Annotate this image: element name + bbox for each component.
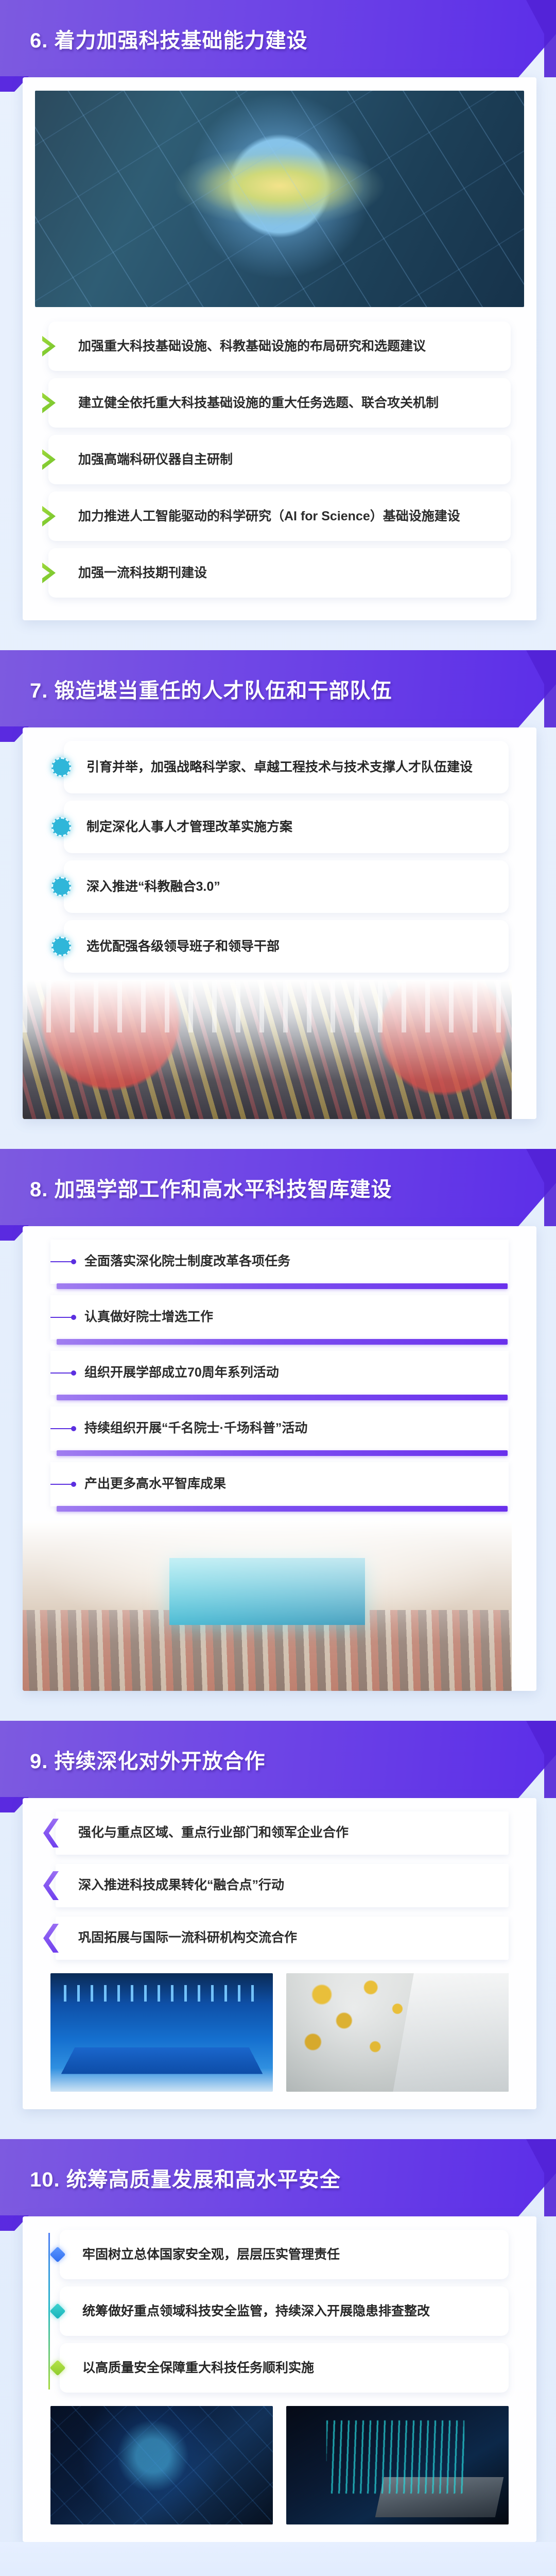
list-item[interactable]: 选优配强各级领导班子和领导干部 xyxy=(64,920,509,973)
list-item[interactable]: 深入推进科技成果转化“融合点”行动 xyxy=(56,1864,509,1907)
section-7-photo-strip xyxy=(23,980,512,1119)
list-item-label: 认真做好院士增选工作 xyxy=(84,1308,213,1327)
section-9-list: 强化与重点区域、重点行业部门和领军企业合作 深入推进科技成果转化“融合点”行动 … xyxy=(35,1811,524,1960)
section-9: 9. 持续深化对外开放合作 强化与重点区域、重点行业部门和领军企业合作 深入推进… xyxy=(0,1721,556,2139)
section-8: 8. 加强学部工作和高水平科技智库建设 全面落实深化院士制度改革各项任务 认真做… xyxy=(0,1149,556,1721)
dashed-circle-icon xyxy=(51,757,71,777)
chevron-right-icon xyxy=(42,449,56,470)
section-8-photo-strip xyxy=(23,1521,512,1691)
section-6-title: 6. 着力加强科技基础能力建设 xyxy=(30,24,307,54)
section-10-title: 10. 统筹高质量发展和高水平安全 xyxy=(30,2163,341,2193)
list-item[interactable]: 深入推进“科教融合3.0” xyxy=(64,860,509,913)
section-10: 10. 统筹高质量发展和高水平安全 牢固树立总体国家安全观，层层压实管理责任 统… xyxy=(0,2139,556,2542)
list-item[interactable]: 认真做好院士增选工作 xyxy=(50,1295,509,1340)
section-9-title: 9. 持续深化对外开放合作 xyxy=(30,1744,265,1774)
list-item[interactable]: 加力推进人工智能驱动的科学研究（AI for Science）基础设施建设 xyxy=(48,492,511,541)
list-item[interactable]: 强化与重点区域、重点行业部门和领军企业合作 xyxy=(56,1811,509,1855)
list-item-label: 引育并举，加强战略科学家、卓越工程技术与技术支撑人才队伍建设 xyxy=(86,757,473,777)
list-item-label: 加强高端科研仪器自主研制 xyxy=(78,450,233,469)
card-underline xyxy=(57,1450,508,1456)
list-item-label: 全面落实深化院士制度改革各项任务 xyxy=(84,1252,290,1272)
card-underline xyxy=(57,1339,508,1345)
section-6-list: 加强重大科技基础设施、科教基础设施的布局研究和选题建议 建立健全依托重大科技基础… xyxy=(35,321,524,598)
diamond-icon xyxy=(49,2360,65,2376)
section-7-header: 7. 锻造堪当重任的人才队伍和干部队伍 xyxy=(0,650,556,727)
chevron-right-icon xyxy=(42,393,56,413)
diamond-icon xyxy=(49,2303,65,2319)
section-8-title: 8. 加强学部工作和高水平科技智库建设 xyxy=(30,1173,392,1202)
double-chevron-left-icon xyxy=(43,1819,59,1848)
double-chevron-left-icon xyxy=(43,1871,59,1900)
list-item[interactable]: 引育并举，加强战略科学家、卓越工程技术与技术支撑人才队伍建设 xyxy=(64,741,509,793)
list-item[interactable]: 全面落实深化院士制度改革各项任务 xyxy=(50,1240,509,1284)
list-item-label: 制定深化人事人才管理改革实施方案 xyxy=(86,817,292,837)
list-item-label: 深入推进“科教融合3.0” xyxy=(86,877,220,897)
bay-area-science-forum-photo xyxy=(50,1973,273,2092)
section-10-header: 10. 统筹高质量发展和高水平安全 xyxy=(0,2139,556,2216)
list-item-label: 加力推进人工智能驱动的科学研究（AI for Science）基础设施建设 xyxy=(78,506,460,526)
arrow-right-icon xyxy=(50,1370,78,1376)
section-8-panel: 全面落实深化院士制度改革各项任务 认真做好院士增选工作 组织开展学部成立70周年… xyxy=(23,1226,536,1691)
data-analysis-laptop-photo xyxy=(286,2406,509,2524)
list-item-label: 加强重大科技基础设施、科教基础设施的布局研究和选题建议 xyxy=(78,336,426,356)
section-7-list: 引育并举，加强战略科学家、卓越工程技术与技术支撑人才队伍建设 制定深化人事人才管… xyxy=(35,741,524,973)
list-item-label: 强化与重点区域、重点行业部门和领军企业合作 xyxy=(78,1823,349,1843)
dashed-circle-icon xyxy=(51,937,71,956)
list-item[interactable]: 牢固树立总体国家安全观，层层压实管理责任 xyxy=(60,2230,509,2279)
dashed-circle-icon xyxy=(51,817,71,837)
list-item-label: 加强一流科技期刊建设 xyxy=(78,563,207,583)
photo-fade-overlay xyxy=(23,1521,512,1691)
photo-fade-overlay xyxy=(23,980,512,1119)
hero-image-collider xyxy=(35,91,524,307)
section-7: 7. 锻造堪当重任的人才队伍和干部队伍 引育并举，加强战略科学家、卓越工程技术与… xyxy=(0,650,556,1149)
section-10-list: 牢固树立总体国家安全观，层层压实管理责任 统筹做好重点领域科技安全监管，持续深入… xyxy=(35,2230,524,2393)
chevron-right-icon xyxy=(42,563,56,583)
section-9-panel: 强化与重点区域、重点行业部门和领军企业合作 深入推进科技成果转化“融合点”行动 … xyxy=(23,1798,536,2109)
section-9-header: 9. 持续深化对外开放合作 xyxy=(0,1721,556,1798)
arrow-right-icon xyxy=(50,1482,78,1487)
dashed-circle-icon xyxy=(51,877,71,896)
section-6: 6. 着力加强科技基础能力建设 加强重大科技基础设施、科教基础设施的布局研究和选… xyxy=(0,0,556,650)
list-item[interactable]: 加强重大科技基础设施、科教基础设施的布局研究和选题建议 xyxy=(48,321,511,371)
list-item[interactable]: 加强一流科技期刊建设 xyxy=(48,548,511,598)
chevron-right-icon xyxy=(42,506,56,527)
chevron-right-icon xyxy=(42,336,56,357)
section-10-panel: 牢固树立总体国家安全观，层层压实管理责任 统筹做好重点领域科技安全监管，持续深入… xyxy=(23,2216,536,2542)
list-item[interactable]: 巩固拓展与国际一流科研机构交流合作 xyxy=(56,1917,509,1960)
closing-block: 2025 xyxy=(0,2542,556,2576)
list-item-label: 巩固拓展与国际一流科研机构交流合作 xyxy=(78,1928,297,1948)
section-8-header: 8. 加强学部工作和高水平科技智库建设 xyxy=(0,1149,556,1226)
section-6-panel: 加强重大科技基础设施、科教基础设施的布局研究和选题建议 建立健全依托重大科技基础… xyxy=(23,77,536,620)
list-item-label: 建立健全依托重大科技基础设施的重大任务选题、联合攻关机制 xyxy=(78,393,439,413)
section-10-photo-pair xyxy=(50,2406,509,2524)
card-underline xyxy=(57,1395,508,1400)
list-item-label: 深入推进科技成果转化“融合点”行动 xyxy=(78,1876,284,1895)
section-7-panel: 引育并举，加强战略科学家、卓越工程技术与技术支撑人才队伍建设 制定深化人事人才管… xyxy=(23,727,536,1119)
section-9-photo-pair xyxy=(50,1973,509,2092)
list-item[interactable]: 制定深化人事人才管理改革实施方案 xyxy=(64,801,509,853)
card-underline xyxy=(57,1283,508,1289)
cyber-security-shield-photo xyxy=(50,2406,273,2524)
list-item-label: 组织开展学部成立70周年系列活动 xyxy=(84,1363,279,1383)
double-chevron-left-icon xyxy=(43,1924,59,1953)
list-item-label: 选优配强各级领导班子和领导干部 xyxy=(86,937,280,957)
sailboat-watercolor-scene: 2025 xyxy=(0,2542,556,2576)
list-item-label: 牢固树立总体国家安全观，层层压实管理责任 xyxy=(82,2245,340,2265)
list-item[interactable]: 持续组织开展“千名院士·千场科普”活动 xyxy=(50,1406,509,1451)
list-item[interactable]: 产出更多高水平智库成果 xyxy=(50,1462,509,1506)
list-item[interactable]: 加强高端科研仪器自主研制 xyxy=(48,435,511,484)
list-item-label: 产出更多高水平智库成果 xyxy=(84,1475,226,1494)
section-6-header: 6. 着力加强科技基础能力建设 xyxy=(0,0,556,77)
detector-facility-photo xyxy=(286,1973,509,2092)
list-item[interactable]: 组织开展学部成立70周年系列活动 xyxy=(50,1351,509,1395)
list-item[interactable]: 统筹做好重点领域科技安全监管，持续深入开展隐患排查整改 xyxy=(60,2286,509,2336)
diamond-icon xyxy=(49,2246,65,2262)
list-item-label: 持续组织开展“千名院士·千场科普”活动 xyxy=(84,1419,307,1438)
arrow-right-icon xyxy=(50,1315,78,1320)
list-item[interactable]: 建立健全依托重大科技基础设施的重大任务选题、联合攻关机制 xyxy=(48,378,511,428)
list-item[interactable]: 以高质量安全保障重大科技任务顺利实施 xyxy=(60,2343,509,2393)
list-item-label: 统筹做好重点领域科技安全监管，持续深入开展隐患排查整改 xyxy=(82,2301,430,2321)
section-8-list: 全面落实深化院士制度改革各项任务 认真做好院士增选工作 组织开展学部成立70周年… xyxy=(35,1240,524,1506)
section-7-title: 7. 锻造堪当重任的人才队伍和干部队伍 xyxy=(30,674,392,704)
arrow-right-icon xyxy=(50,1259,78,1264)
card-underline xyxy=(57,1506,508,1512)
list-item-label: 以高质量安全保障重大科技任务顺利实施 xyxy=(82,2358,314,2378)
arrow-right-icon xyxy=(50,1426,78,1431)
